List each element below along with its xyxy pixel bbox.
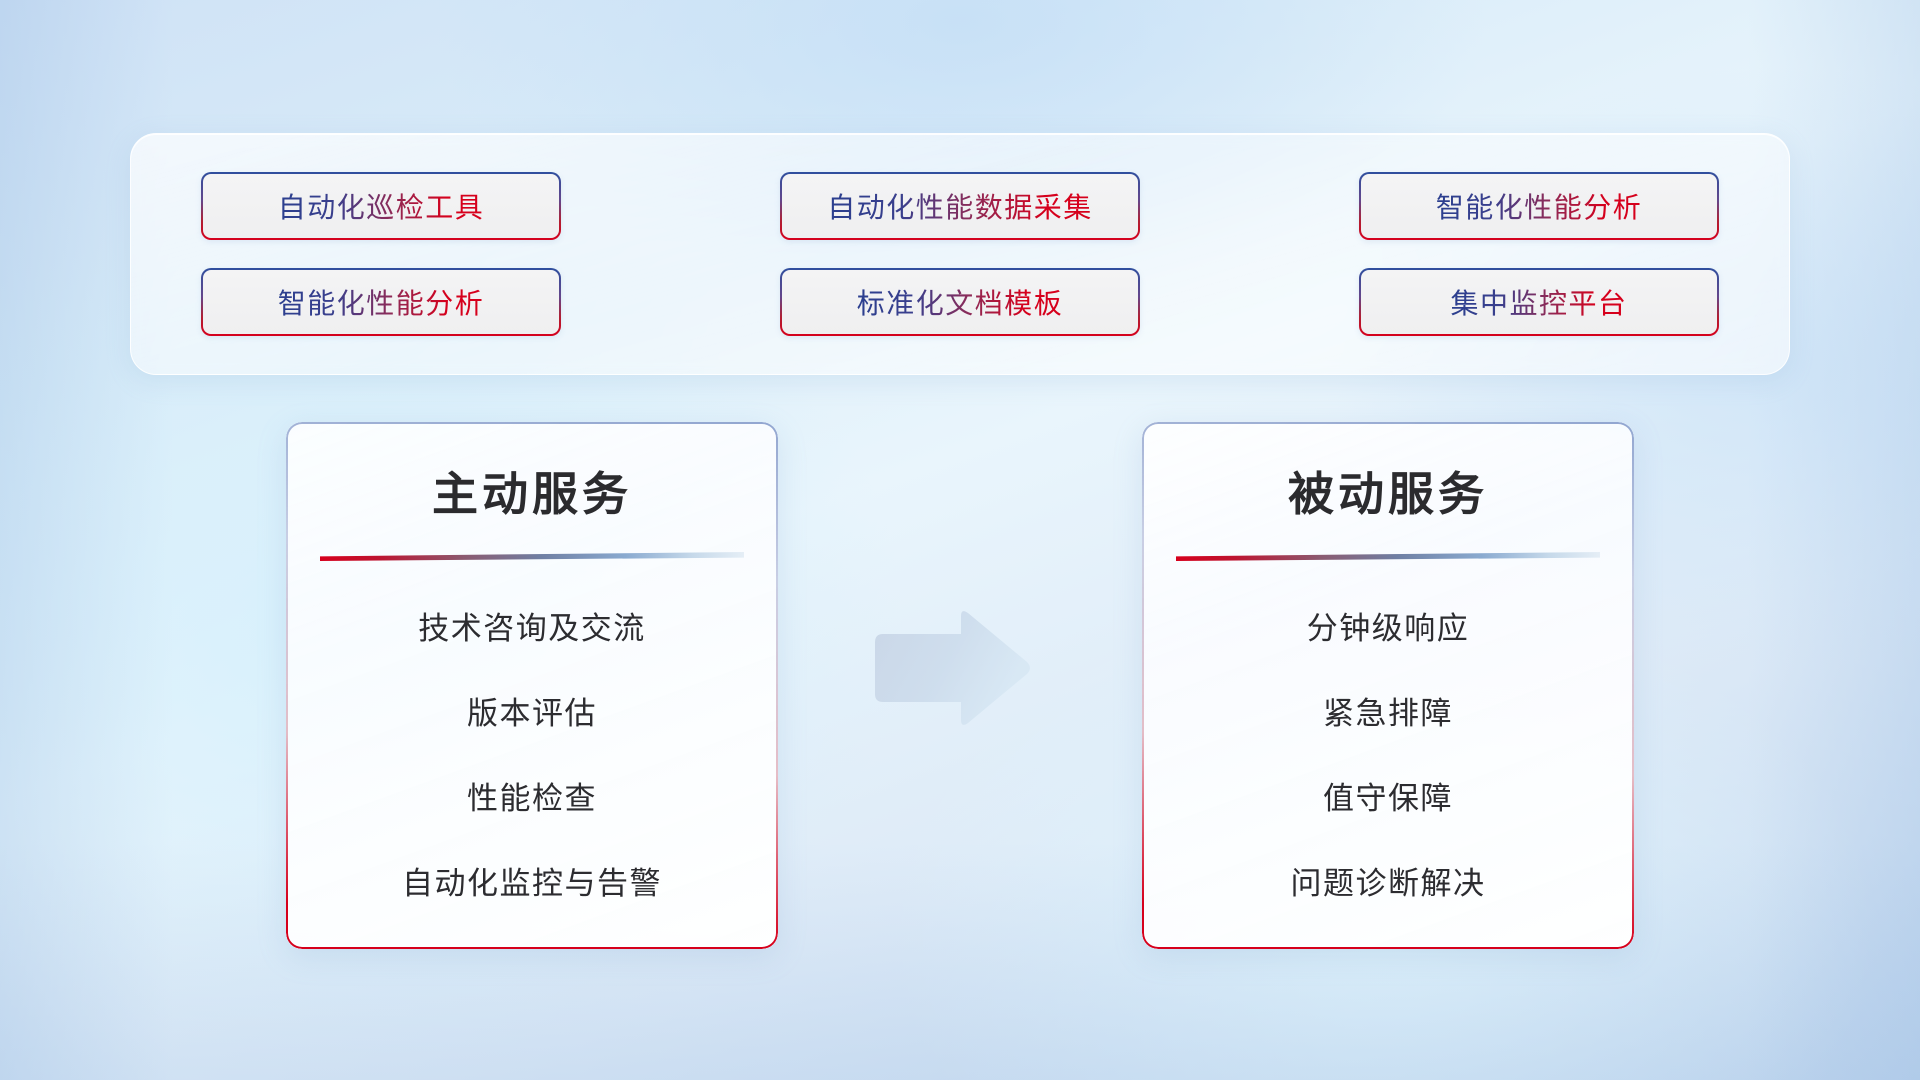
pill-surface: 自动化巡检工具	[203, 174, 559, 238]
capability-pill-standardized-document-template[interactable]: 标准化文档模板	[780, 268, 1140, 336]
card-title: 被动服务	[1142, 458, 1634, 524]
list-item: 紧急排障	[1323, 688, 1453, 733]
service-card-proactive[interactable]: 主动服务 技术咨询及交流 版本评估 性能检查 自动化监控与告警 健康巡检	[286, 422, 778, 949]
pill-label: 智能化性能分析	[1436, 186, 1643, 226]
pill-surface: 智能化性能分析	[203, 270, 559, 334]
pill-surface: 标准化文档模板	[782, 270, 1138, 334]
list-item: 问题诊断解决	[1291, 858, 1486, 903]
capability-row-2: 智能化性能分析 标准化文档模板 集中监控平台	[201, 268, 1719, 336]
pill-label: 自动化性能数据采集	[827, 186, 1093, 226]
capability-row-1: 自动化巡检工具 自动化性能数据采集 智能化性能分析	[201, 172, 1719, 240]
list-item: 性能检查	[467, 773, 597, 818]
capability-pill-intelligent-performance-analysis-2[interactable]: 智能化性能分析	[201, 268, 561, 336]
capability-panel: 自动化巡检工具 自动化性能数据采集 智能化性能分析 智能化性能分析	[130, 133, 1790, 375]
card-title: 主动服务	[286, 458, 778, 524]
capability-pill-automated-inspection-tool[interactable]: 自动化巡检工具	[201, 172, 561, 240]
card-item-list: 技术咨询及交流 版本评估 性能检查 自动化监控与告警 健康巡检	[286, 603, 778, 949]
list-item: SLA式服务	[1308, 943, 1469, 949]
pill-surface: 智能化性能分析	[1361, 174, 1717, 238]
list-item: 分钟级响应	[1307, 603, 1470, 648]
card-title-underline	[320, 552, 744, 561]
pill-surface: 集中监控平台	[1361, 270, 1717, 334]
service-card-reactive[interactable]: 被动服务 分钟级响应 紧急排障 值守保障 问题诊断解决 SLA式服务	[1142, 422, 1634, 949]
list-item: 值守保障	[1323, 773, 1453, 818]
pill-label: 标准化文档模板	[857, 282, 1064, 322]
pill-label: 集中监控平台	[1450, 282, 1627, 322]
list-item: 版本评估	[467, 688, 597, 733]
right-arrow-icon	[869, 606, 1033, 730]
capability-pill-centralized-monitoring-platform[interactable]: 集中监控平台	[1359, 268, 1719, 336]
capability-pill-automated-performance-data-collection[interactable]: 自动化性能数据采集	[780, 172, 1140, 240]
pill-label: 自动化巡检工具	[278, 186, 485, 226]
list-item: 自动化监控与告警	[402, 858, 662, 903]
list-item: 健康巡检	[467, 943, 597, 949]
card-title-underline	[1176, 552, 1600, 561]
pill-surface: 自动化性能数据采集	[782, 174, 1138, 238]
card-item-list: 分钟级响应 紧急排障 值守保障 问题诊断解决 SLA式服务	[1142, 603, 1634, 949]
slide-canvas: 自动化巡检工具 自动化性能数据采集 智能化性能分析 智能化性能分析	[0, 0, 1920, 1080]
list-item: 技术咨询及交流	[418, 603, 646, 648]
pill-label: 智能化性能分析	[278, 282, 485, 322]
capability-pill-intelligent-performance-analysis[interactable]: 智能化性能分析	[1359, 172, 1719, 240]
